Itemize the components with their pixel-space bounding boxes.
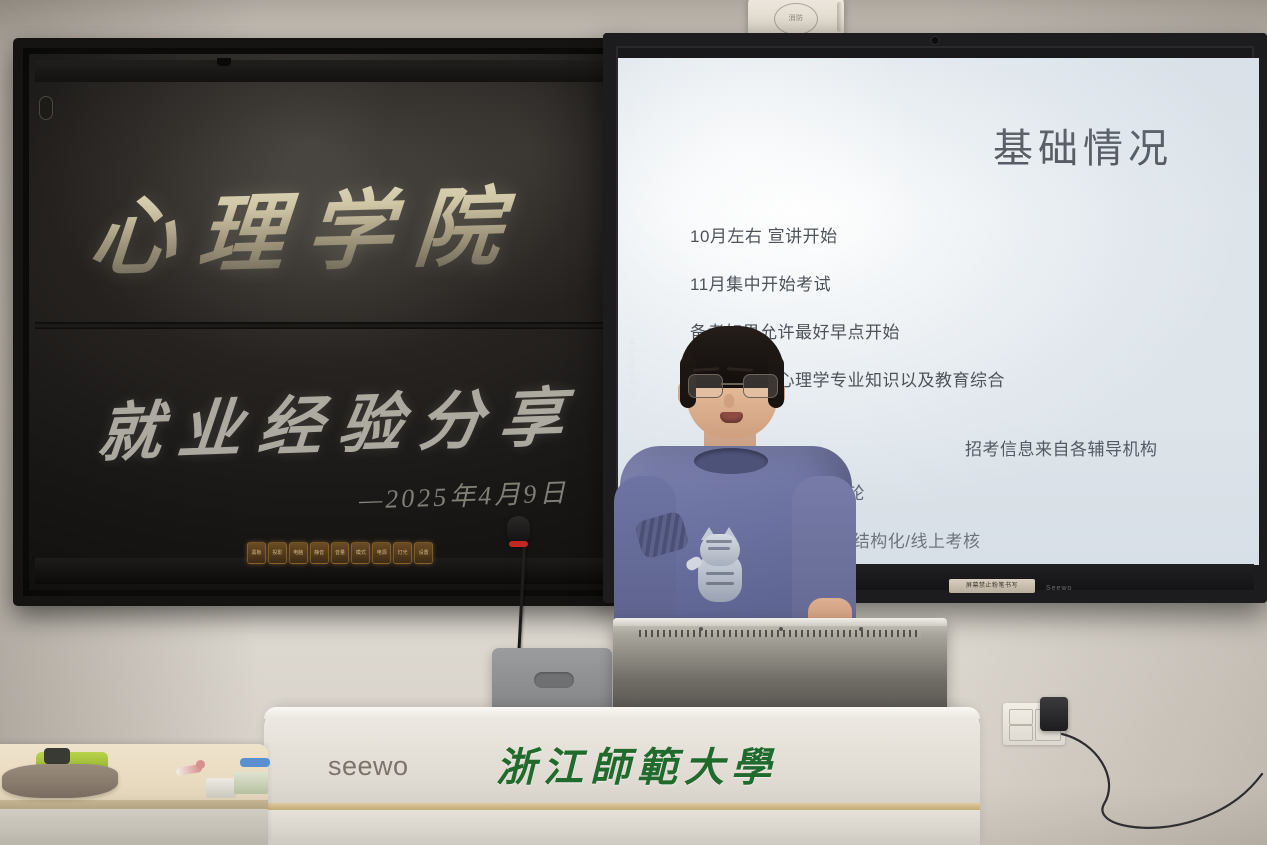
detector-rib (837, 2, 842, 32)
nose (724, 394, 734, 408)
counter-blue-marker (240, 758, 270, 767)
cat-head (700, 534, 740, 566)
presenter: 偶尔也想偷懒一下 (612, 330, 862, 660)
control-button[interactable]: 电源 (372, 542, 391, 564)
control-button[interactable]: 模式 (351, 542, 370, 564)
podium-brand-label: seewo (328, 751, 409, 782)
glasses-lens-right (743, 374, 778, 398)
control-panel-strip[interactable]: 黑板 投影 电脑 静音 音量 模式 电源 灯光 设置 (247, 542, 433, 564)
control-button[interactable]: 静音 (310, 542, 329, 564)
control-button[interactable]: 灯光 (393, 542, 412, 564)
control-button[interactable]: 电脑 (289, 542, 308, 564)
control-button[interactable]: 黑板 (247, 542, 266, 564)
chalk-subtitle: 就业经验分享 (94, 366, 584, 475)
blackboard-panel-divider (35, 322, 603, 329)
mouth (720, 412, 743, 423)
chair-handle-slot (534, 672, 574, 688)
control-button[interactable]: 设置 (414, 542, 433, 564)
shirt-text: 偶尔也想偷懒一下 (622, 338, 636, 402)
monitor-vents (639, 630, 921, 637)
control-button[interactable]: 投影 (268, 542, 287, 564)
display-brand-logo: Seewo (1046, 585, 1072, 592)
sweatshirt-collar (694, 448, 768, 474)
counter-dark-object (44, 748, 70, 764)
no-chalk-warning-sticker: 屏幕禁止粉笔书写 (949, 579, 1035, 593)
blackboard-top-rail (35, 60, 603, 82)
camera-icon (932, 37, 939, 44)
cat-stripe (708, 547, 730, 550)
counter-pink-object (196, 760, 205, 769)
control-button[interactable]: 音量 (331, 542, 350, 564)
glasses-lens-left (688, 374, 723, 398)
cat-stripe (706, 540, 732, 543)
floor-shadow (0, 785, 1267, 845)
glasses-icon (686, 374, 778, 396)
blackboard: 心理学院 就业经验分享 —2025年4月9日 黑板 投影 电脑 静音 音量 模式… (13, 38, 625, 606)
blackboard-top-notch (217, 58, 231, 66)
glasses-bridge (721, 383, 743, 385)
classroom-photo-scene: 消防 心理学院 就业经验分享 —2025年4月9日 黑板 投影 电脑 静音 音量… (0, 0, 1267, 845)
monitor-screw (859, 627, 863, 631)
podium-top-lip (264, 707, 980, 719)
monitor-screw (779, 627, 783, 631)
chalk-title: 心理学院 (86, 156, 529, 292)
cat-stripe (706, 572, 734, 575)
detector-label: 消防 (789, 13, 804, 23)
shirt-cat-icon (684, 532, 758, 606)
cat-stripe (706, 582, 734, 585)
monitor-top-edge (613, 618, 947, 626)
chalk-date: —2025年4月9日 (358, 472, 568, 516)
blackboard-surface: 心理学院 就业经验分享 —2025年4月9日 黑板 投影 电脑 静音 音量 模式… (29, 54, 609, 590)
microphone-status-ring (509, 541, 528, 547)
monitor-screw (699, 627, 703, 631)
blackboard-slide-handle[interactable] (39, 96, 53, 120)
